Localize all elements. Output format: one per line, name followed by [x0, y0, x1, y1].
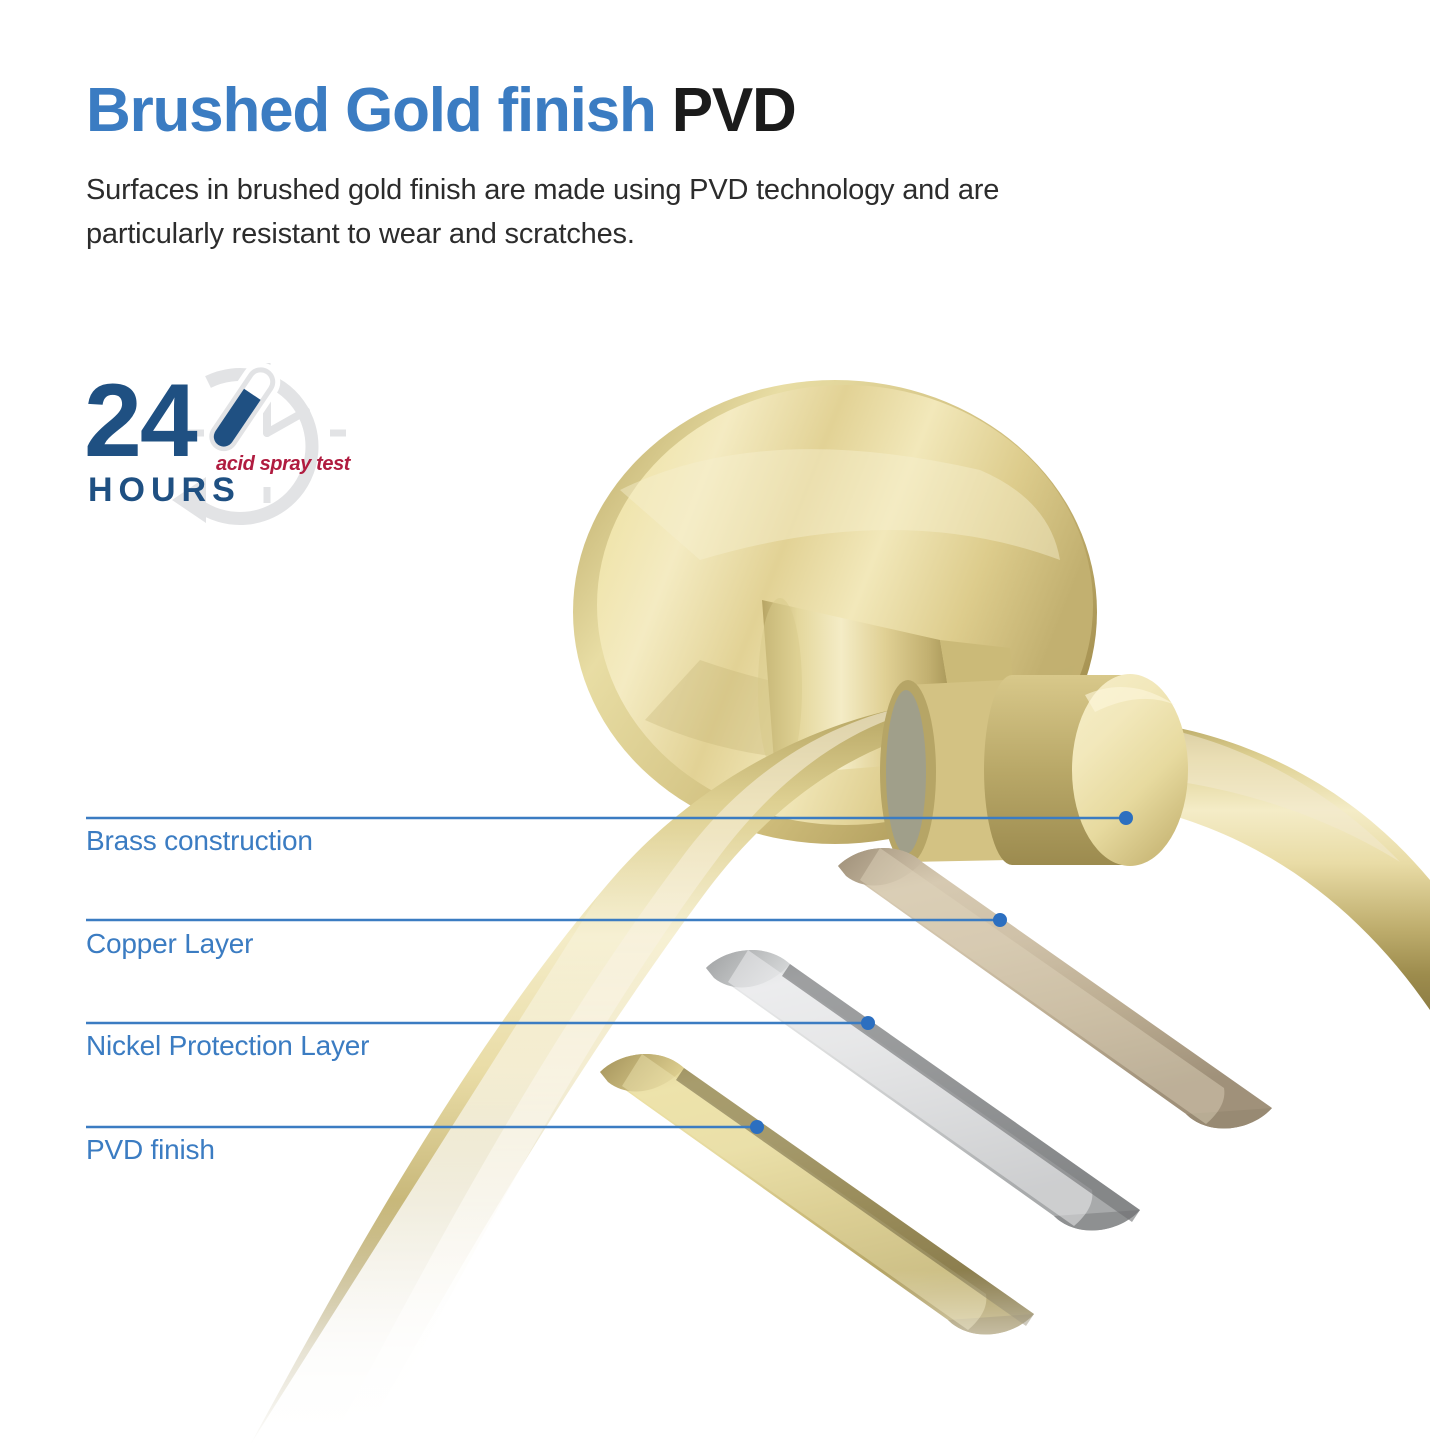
callout-label-3: Nickel Protection Layer: [86, 1030, 369, 1062]
callout-label-1: Brass construction: [86, 825, 313, 857]
infographic-page: Brushed Gold finish PVD Surfaces in brus…: [0, 0, 1445, 1445]
callout-label-4: PVD finish: [86, 1134, 215, 1166]
callout-dot: [861, 1016, 875, 1030]
callout-lines: [0, 0, 1445, 1445]
callout-label-2: Copper Layer: [86, 928, 253, 960]
callout-dot: [1119, 811, 1133, 825]
callout-dot: [750, 1120, 764, 1134]
callout-dot: [993, 913, 1007, 927]
